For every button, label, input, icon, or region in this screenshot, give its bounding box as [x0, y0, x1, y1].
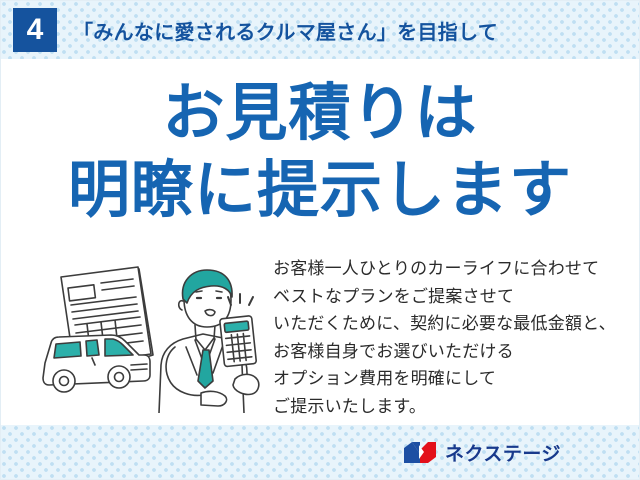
section-number-badge: 4 [13, 8, 57, 52]
header-title: 「みんなに愛されるクルマ屋さん」を目指して [73, 16, 498, 45]
footer-band: ネクステージ [1, 425, 639, 479]
brand-name: ネクステージ [445, 439, 561, 466]
copy-line-1: お客様一人ひとりのカーライフに合わせて [273, 255, 633, 283]
headline-line-2: 明瞭に提示します [1, 156, 639, 227]
copy-line-4: お客様自身でお選びいただける [273, 338, 633, 366]
copy-line-3: いただくために、契約に必要な最低金額と、 [273, 310, 633, 338]
promo-banner: 4 「みんなに愛されるクルマ屋さん」を目指して お見積りは 明瞭に提示します [0, 0, 640, 480]
copy-line-6: ご提示いたします。 [273, 393, 633, 421]
illustration [35, 255, 267, 413]
headline-line-1: お見積りは [1, 79, 639, 150]
nextage-n-mark-icon [403, 441, 437, 464]
header-band: 4 「みんなに愛されるクルマ屋さん」を目指して [1, 1, 639, 59]
main-stage: お見積りは 明瞭に提示します [1, 59, 639, 425]
copy-line-2: ベストなプランをご提案させて [273, 283, 633, 311]
headline: お見積りは 明瞭に提示します [1, 79, 639, 226]
copy-line-5: オプション費用を明確にして [273, 365, 633, 393]
body-copy: お客様一人ひとりのカーライフに合わせて ベストなプランをご提案させて いただくた… [273, 255, 633, 420]
brand-logo: ネクステージ [403, 439, 561, 466]
